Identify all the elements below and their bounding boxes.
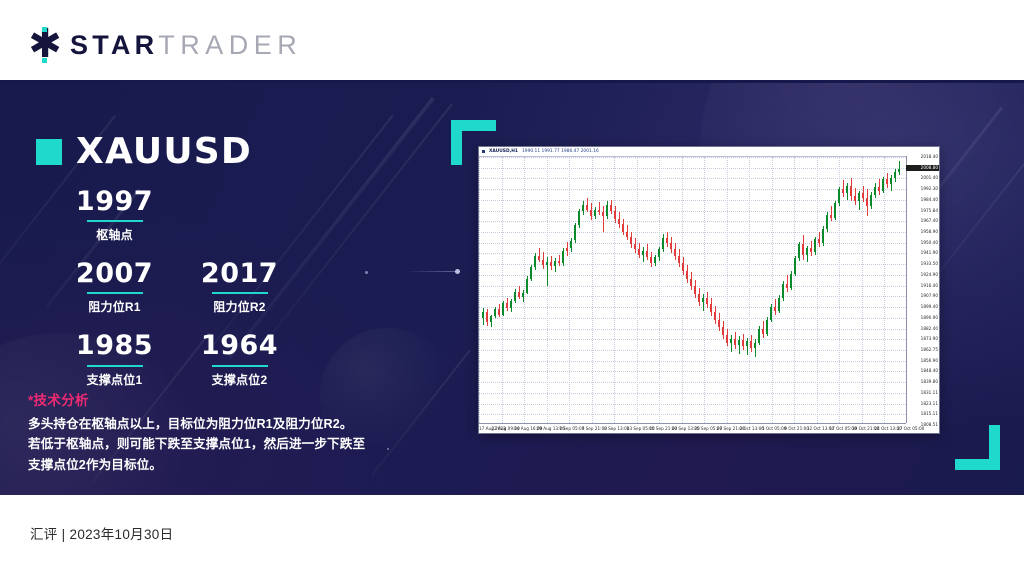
candle-body — [662, 238, 664, 249]
candle-body — [494, 309, 496, 315]
candle-body — [870, 195, 872, 206]
candle-body — [554, 261, 556, 266]
time-tick-label: 5 Oct 05:00 — [762, 426, 787, 431]
candle-body — [698, 294, 700, 302]
current-price-tag: 2008.80 — [906, 165, 939, 171]
candle-body — [874, 187, 876, 195]
candle-body — [826, 215, 828, 229]
candle-body — [562, 251, 564, 264]
chart-plot-area[interactable] — [479, 156, 906, 423]
price-tick-label: 1882.40 — [921, 326, 938, 331]
candle-body — [802, 244, 804, 254]
price-tick-label: 1958.90 — [921, 229, 938, 234]
candle-body — [670, 243, 672, 249]
candle-body — [850, 186, 852, 196]
symbol-heading: XAUUSD — [36, 131, 252, 172]
candle-body — [610, 205, 612, 211]
candle-body — [558, 261, 560, 264]
candle-body — [518, 292, 520, 297]
candle-body — [546, 262, 548, 265]
candle-body — [886, 179, 888, 184]
price-tick-label: 1862.75 — [921, 347, 938, 352]
candle-body — [598, 210, 600, 213]
candle-wick — [739, 336, 740, 354]
candle-body — [822, 229, 824, 243]
level-pivot: 1997 枢轴点 — [52, 187, 177, 243]
candlestick-series — [479, 157, 906, 423]
candle-wick — [599, 202, 600, 215]
levels-row-resistance: 2007 阻力位R1 2017 阻力位R2 — [52, 259, 352, 331]
price-tick-label: 1916.40 — [921, 283, 938, 288]
level-value: 2007 — [52, 259, 177, 289]
candle-body — [882, 179, 884, 190]
level-value: 1964 — [177, 331, 302, 361]
candle-body — [718, 320, 720, 328]
time-tick-label: 27 Oct 05:00 — [897, 426, 924, 431]
candle-body — [782, 284, 784, 298]
candle-body — [566, 248, 568, 251]
candle-body — [614, 211, 616, 219]
price-tick-label: 2001.40 — [921, 175, 938, 180]
time-tick-label: 2 Oct 13:00 — [739, 426, 764, 431]
candle-body — [626, 232, 628, 237]
analysis-line-3: 支撑点位2作为目标位。 — [28, 455, 428, 475]
price-tick-label: 1815.11 — [921, 411, 938, 416]
candle-body — [646, 251, 648, 257]
candle-body — [842, 189, 844, 193]
candle-body — [542, 260, 544, 265]
time-tick-label: 7 Sep 21:00 — [582, 426, 607, 431]
level-value: 1985 — [52, 331, 177, 361]
candle-body — [550, 262, 552, 266]
symbol-name: XAUUSD — [76, 131, 252, 172]
candle-body — [658, 249, 660, 257]
star-asterisk-icon: ✱ — [26, 26, 64, 64]
candle-body — [678, 256, 680, 264]
candle-body — [674, 249, 676, 255]
candle-body — [582, 205, 584, 211]
candle-body — [570, 241, 572, 249]
price-tick-label: 1848.40 — [921, 368, 938, 373]
candle-wick — [703, 294, 704, 311]
price-tick-label: 1984.40 — [921, 197, 938, 202]
level-label: 阻力位R2 — [177, 298, 302, 315]
candle-body — [514, 292, 516, 301]
level-underline-icon — [87, 365, 143, 367]
candle-body — [502, 303, 504, 314]
candle-body — [790, 274, 792, 288]
candle-body — [690, 279, 692, 287]
price-tick-label: 1831.11 — [921, 390, 938, 395]
candle-body — [858, 193, 860, 201]
candle-body — [722, 327, 724, 335]
candle-body — [486, 312, 488, 322]
corner-bracket-bottom-right-icon — [955, 425, 1000, 470]
price-axis[interactable]: 2018.402008.802001.401992.301984.401975.… — [906, 156, 939, 423]
candle-body — [602, 212, 604, 216]
candle-body — [694, 286, 696, 294]
level-label: 支撑点位1 — [52, 371, 177, 388]
candle-body — [534, 256, 536, 267]
price-tick-label: 1873.90 — [921, 336, 938, 341]
pivot-levels: 1997 枢轴点 2007 阻力位R1 2017 — [52, 187, 352, 404]
candle-body — [682, 263, 684, 271]
chart-symbol-label: XAUUSD,H1 — [489, 149, 518, 154]
decor-dot — [365, 271, 368, 274]
candle-body — [522, 293, 524, 297]
candle-body — [526, 279, 528, 293]
candle-body — [702, 298, 704, 302]
candle-body — [806, 248, 808, 254]
candle-body — [778, 298, 780, 311]
time-tick-label: 1 Sep 05:00 — [559, 426, 584, 431]
candle-body — [574, 225, 576, 240]
candle-body — [770, 307, 772, 320]
level-label: 支撑点位2 — [177, 371, 302, 388]
price-tick-label: 1950.40 — [921, 240, 938, 245]
candle-body — [754, 343, 756, 348]
main-stage: XAUUSD 1997 枢轴点 2007 阻力 — [0, 83, 1024, 495]
candle-wick — [643, 247, 644, 262]
candle-body — [738, 340, 740, 345]
candle-body — [786, 284, 788, 288]
candle-body — [490, 316, 492, 322]
poster-page: ✱ STARTRADER XAUUSD — [0, 0, 1024, 576]
level-support-1: 1985 支撑点位1 — [52, 331, 177, 387]
technical-analysis: *技术分析 多头持仓在枢轴点以上，目标位为阻力位R1及阻力位R2。 若低于枢轴点… — [28, 389, 428, 475]
brand-secondary: TRADER — [158, 30, 302, 60]
candle-body — [586, 205, 588, 210]
level-value: 1997 — [52, 187, 177, 217]
candle-body — [654, 257, 656, 263]
price-tick-label: 1933.50 — [921, 261, 938, 266]
candle-body — [710, 304, 712, 312]
candle-body — [762, 329, 764, 334]
candle-body — [766, 320, 768, 334]
time-axis[interactable]: 17 Aug 202322 Aug 09:0024 Aug 16:0029 Au… — [479, 423, 906, 433]
price-tick-label: 1823.11 — [921, 401, 938, 406]
candle-body — [498, 309, 500, 314]
candle-body — [746, 341, 748, 346]
candle-body — [838, 189, 840, 203]
price-tick-label: 1890.90 — [921, 315, 938, 320]
brand-wordmark: STARTRADER — [70, 30, 302, 61]
candle-body — [686, 271, 688, 279]
candle-body — [750, 341, 752, 347]
candle-wick — [731, 335, 732, 352]
candle-body — [618, 219, 620, 224]
level-resistance-1: 2007 阻力位R1 — [52, 259, 177, 315]
candle-body — [846, 186, 848, 194]
level-underline-icon — [87, 292, 143, 294]
candle-body — [810, 248, 812, 252]
page-footer: 汇评 | 2023年10月30日 — [0, 495, 1024, 576]
candle-body — [862, 193, 864, 198]
candle-body — [898, 169, 900, 172]
candle-body — [706, 298, 708, 304]
chart-ohlc-label: 1990.11 1991.77 1986.47 2001.16 — [522, 149, 599, 154]
candle-body — [878, 187, 880, 191]
candle-body — [774, 307, 776, 311]
candle-body — [866, 198, 868, 206]
candle-body — [650, 257, 652, 263]
candle-body — [482, 312, 484, 318]
candle-body — [578, 211, 580, 225]
price-tick-label: 2018.40 — [921, 154, 938, 159]
candle-body — [818, 239, 820, 243]
time-tick-label: 9 Oct 21:00 — [784, 426, 809, 431]
candle-wick — [603, 206, 604, 232]
candle-body — [630, 237, 632, 245]
candle-wick — [831, 206, 832, 221]
candle-body — [634, 244, 636, 249]
price-tick-label: 1924.90 — [921, 272, 938, 277]
price-tick-label: 1856.90 — [921, 358, 938, 363]
price-tick-label: 1992.30 — [921, 186, 938, 191]
candle-body — [794, 258, 796, 273]
candle-body — [590, 210, 592, 216]
level-underline-icon — [212, 365, 268, 367]
symbol-marker-icon — [36, 139, 62, 165]
chart-marker-icon — [482, 150, 485, 153]
chart-title-bar: XAUUSD,H1 1990.11 1991.77 1986.47 2001.1… — [479, 147, 939, 156]
footer-caption: 汇评 | 2023年10月30日 — [30, 523, 173, 543]
candle-body — [622, 224, 624, 232]
time-tick-label: 8 Sep 13:00 — [604, 426, 629, 431]
candle-wick — [747, 338, 748, 356]
level-label: 枢轴点 — [52, 226, 177, 243]
candle-body — [798, 244, 800, 258]
candle-body — [854, 196, 856, 201]
price-tick-label: 1967.40 — [921, 218, 938, 223]
chart-window[interactable]: XAUUSD,H1 1990.11 1991.77 1986.47 2001.1… — [478, 146, 940, 434]
candle-body — [714, 312, 716, 320]
candle-body — [510, 301, 512, 309]
candle-body — [890, 178, 892, 184]
price-tick-label: 1839.80 — [921, 379, 938, 384]
candle-body — [606, 205, 608, 216]
candle-body — [666, 238, 668, 243]
candle-body — [830, 215, 832, 218]
candle-body — [726, 335, 728, 343]
level-support-2: 1964 支撑点位2 — [177, 331, 302, 387]
candle-body — [530, 267, 532, 278]
decor-hairline — [405, 271, 460, 272]
candle-body — [894, 172, 896, 178]
candle-body — [506, 303, 508, 308]
analysis-line-2: 若低于枢轴点，则可能下跌至支撑点位1，然后进一步下跌至 — [28, 434, 428, 454]
analysis-line-1: 多头持仓在枢轴点以上，目标位为阻力位R1及阻力位R2。 — [28, 414, 428, 434]
page-header: ✱ STARTRADER — [0, 0, 1024, 80]
price-tick-label: 1907.90 — [921, 293, 938, 298]
level-value: 2017 — [177, 259, 302, 289]
candle-body — [638, 249, 640, 254]
levels-row-pivot: 1997 枢轴点 — [52, 187, 352, 259]
candle-body — [734, 339, 736, 345]
price-tick-label: 1975.84 — [921, 208, 938, 213]
candle-body — [642, 251, 644, 255]
candle-body — [834, 203, 836, 217]
price-tick-label: 1899.40 — [921, 304, 938, 309]
brand-logo: ✱ STARTRADER — [26, 26, 302, 64]
level-underline-icon — [212, 292, 268, 294]
candle-wick — [755, 339, 756, 357]
candle-body — [730, 339, 732, 343]
candle-body — [742, 340, 744, 346]
analysis-title: *技术分析 — [28, 389, 428, 409]
candle-body — [758, 329, 760, 343]
level-label: 阻力位R1 — [52, 298, 177, 315]
candle-body — [814, 239, 816, 252]
brand-primary: STAR — [70, 30, 158, 60]
price-tick-label: 1941.90 — [921, 250, 938, 255]
candle-body — [594, 210, 596, 216]
candle-body — [538, 256, 540, 260]
level-underline-icon — [87, 220, 143, 222]
level-resistance-2: 2017 阻力位R2 — [177, 259, 302, 315]
